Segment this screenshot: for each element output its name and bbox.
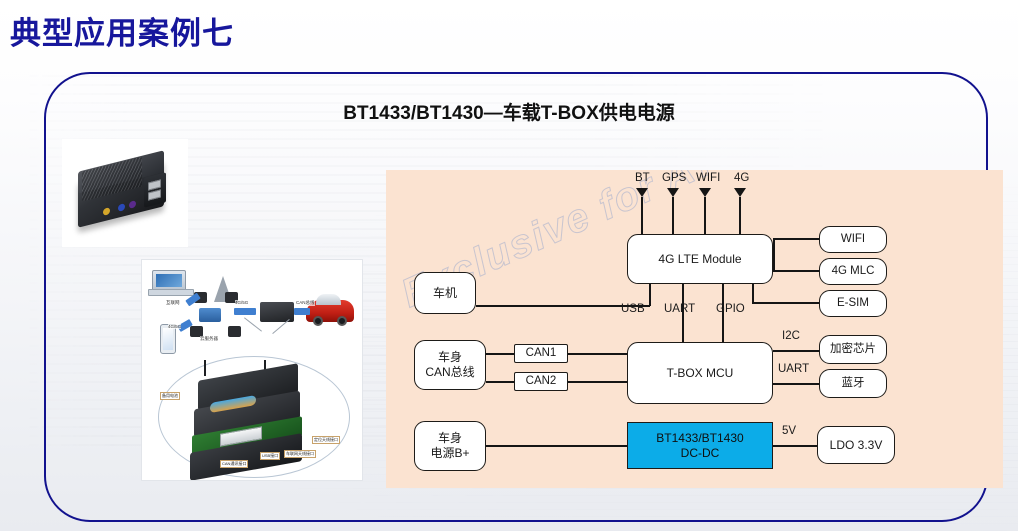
wire-can1-mcu <box>568 353 627 355</box>
photo-inline-label: 4G/5G <box>235 300 248 305</box>
node-4g-mlc[interactable]: 4G MLC <box>819 258 887 285</box>
node-label: WIFI <box>841 232 865 246</box>
car-wheel <box>313 316 323 326</box>
antenna-label-gps: GPS <box>662 172 686 184</box>
node-4g-lte-module[interactable]: 4G LTE Module <box>627 234 773 284</box>
wire-lte-esim <box>752 302 819 304</box>
node-label: T-BOX MCU <box>667 366 734 381</box>
photo-callout-label: CAN通讯接口 <box>220 460 248 468</box>
antenna-label-bt: BT <box>635 172 650 184</box>
signal-label-5v: 5V <box>782 425 796 437</box>
server-node <box>228 326 241 337</box>
antenna-symbol-bt <box>636 188 648 197</box>
node-label: 加密芯片 <box>830 342 876 356</box>
node-label: 蓝牙 <box>842 376 865 390</box>
wire-lte-wifi <box>773 238 819 240</box>
cloud-switch <box>199 308 221 322</box>
wire-antenna-gps <box>672 197 674 236</box>
laptop-illustration <box>152 270 186 292</box>
node-tbox-mcu[interactable]: T-BOX MCU <box>627 342 773 404</box>
wire-dcdc-ldo <box>773 445 818 447</box>
node-power-input[interactable]: 车身 电源B+ <box>414 421 486 471</box>
photo-inline-label: 云服务器 <box>200 336 218 342</box>
photo-callout-label: USB接口 <box>260 452 280 460</box>
wire-lte-4gmlc <box>773 270 819 272</box>
wire-usb-drop <box>649 284 651 306</box>
wire-canbus-can2 <box>486 381 514 383</box>
wire-power-dcdc <box>486 445 627 447</box>
photo-callout-label: 车联网天线接口 <box>284 450 316 458</box>
antenna-stub <box>204 360 206 376</box>
node-label: 车身 <box>438 431 462 446</box>
antenna-symbol-gps <box>667 188 679 197</box>
flow-arrow <box>294 308 310 315</box>
antenna-label-4g: 4G <box>734 172 749 184</box>
page-title: 典型应用案例七 <box>10 8 234 53</box>
node-label: 4G MLC <box>832 264 875 278</box>
signal-label-i2c: I2C <box>782 330 800 342</box>
photo-callout-label: 备用电池 <box>160 392 180 400</box>
node-label: E-SIM <box>837 296 869 310</box>
node-label: CAN1 <box>526 346 557 360</box>
wire-antenna-bt <box>641 197 643 236</box>
node-ldo-3v3[interactable]: LDO 3.3V <box>817 426 895 464</box>
photo-inline-label: 4G/5G <box>168 324 181 329</box>
node-label: 车身 <box>438 350 462 365</box>
system-diagram-photo: 互联网 4G/5G 4G/5G CAN总线 云服务器 备用电池 CAN通讯接口 … <box>141 259 363 481</box>
car-wheel <box>337 316 347 326</box>
phone-screen <box>163 328 173 350</box>
signal-label-uart-bt: UART <box>778 363 809 375</box>
device-photo <box>62 139 188 247</box>
antenna-symbol-4g <box>734 188 746 197</box>
node-wifi[interactable]: WIFI <box>819 226 887 253</box>
wire-mcu-i2c <box>773 350 819 352</box>
node-label: LDO 3.3V <box>830 438 883 453</box>
signal-label-usb: USB <box>621 303 645 315</box>
antenna-label-wifi: WIFI <box>696 172 720 184</box>
wire-antenna-4g <box>739 197 741 236</box>
photo-inline-label: 互联网 <box>166 300 180 306</box>
node-can2[interactable]: CAN2 <box>514 372 568 391</box>
node-can1[interactable]: CAN1 <box>514 344 568 363</box>
node-label: 4G LTE Module <box>658 252 741 267</box>
wire-mcu-uart-bt <box>773 383 819 385</box>
photo-callout-label: 定位天线接口 <box>312 436 340 444</box>
wire-can2-mcu <box>568 381 627 383</box>
wire-lte-esim-drop <box>752 284 754 304</box>
node-crypto-chip[interactable]: 加密芯片 <box>819 335 887 364</box>
node-label: CAN2 <box>526 374 557 388</box>
wire-lte-right-bus <box>773 238 775 272</box>
flow-arrow <box>234 308 256 315</box>
signal-label-uart-lte: UART <box>664 303 695 315</box>
node-label: 车机 <box>433 286 457 301</box>
node-label-line2: CAN总线 <box>425 365 474 380</box>
diagram-subtitle: BT1433/BT1430—车载T-BOX供电电源 <box>0 98 1018 125</box>
node-can-bus[interactable]: 车身 CAN总线 <box>414 340 486 390</box>
node-label: BT1433/BT1430 <box>656 431 743 446</box>
antenna-symbol-wifi <box>699 188 711 197</box>
block-diagram-panel: Exclusive for ATC BT GPS WIFI 4G 4G LTE … <box>386 170 1003 488</box>
node-head-unit[interactable]: 车机 <box>414 272 476 314</box>
wire-canbus-can1 <box>486 353 514 355</box>
node-e-sim[interactable]: E-SIM <box>819 290 887 317</box>
node-dcdc-bt1433-bt1430[interactable]: BT1433/BT1430 DC-DC <box>627 422 773 469</box>
node-label-line2: 电源B+ <box>430 446 469 461</box>
node-bluetooth[interactable]: 蓝牙 <box>819 369 887 398</box>
wire-antenna-wifi <box>704 197 706 236</box>
laptop-screen <box>156 274 182 287</box>
signal-label-gpio: GPIO <box>716 303 745 315</box>
node-label-line2: DC-DC <box>681 446 720 461</box>
photo-inline-label: CAN总线 <box>296 300 315 306</box>
